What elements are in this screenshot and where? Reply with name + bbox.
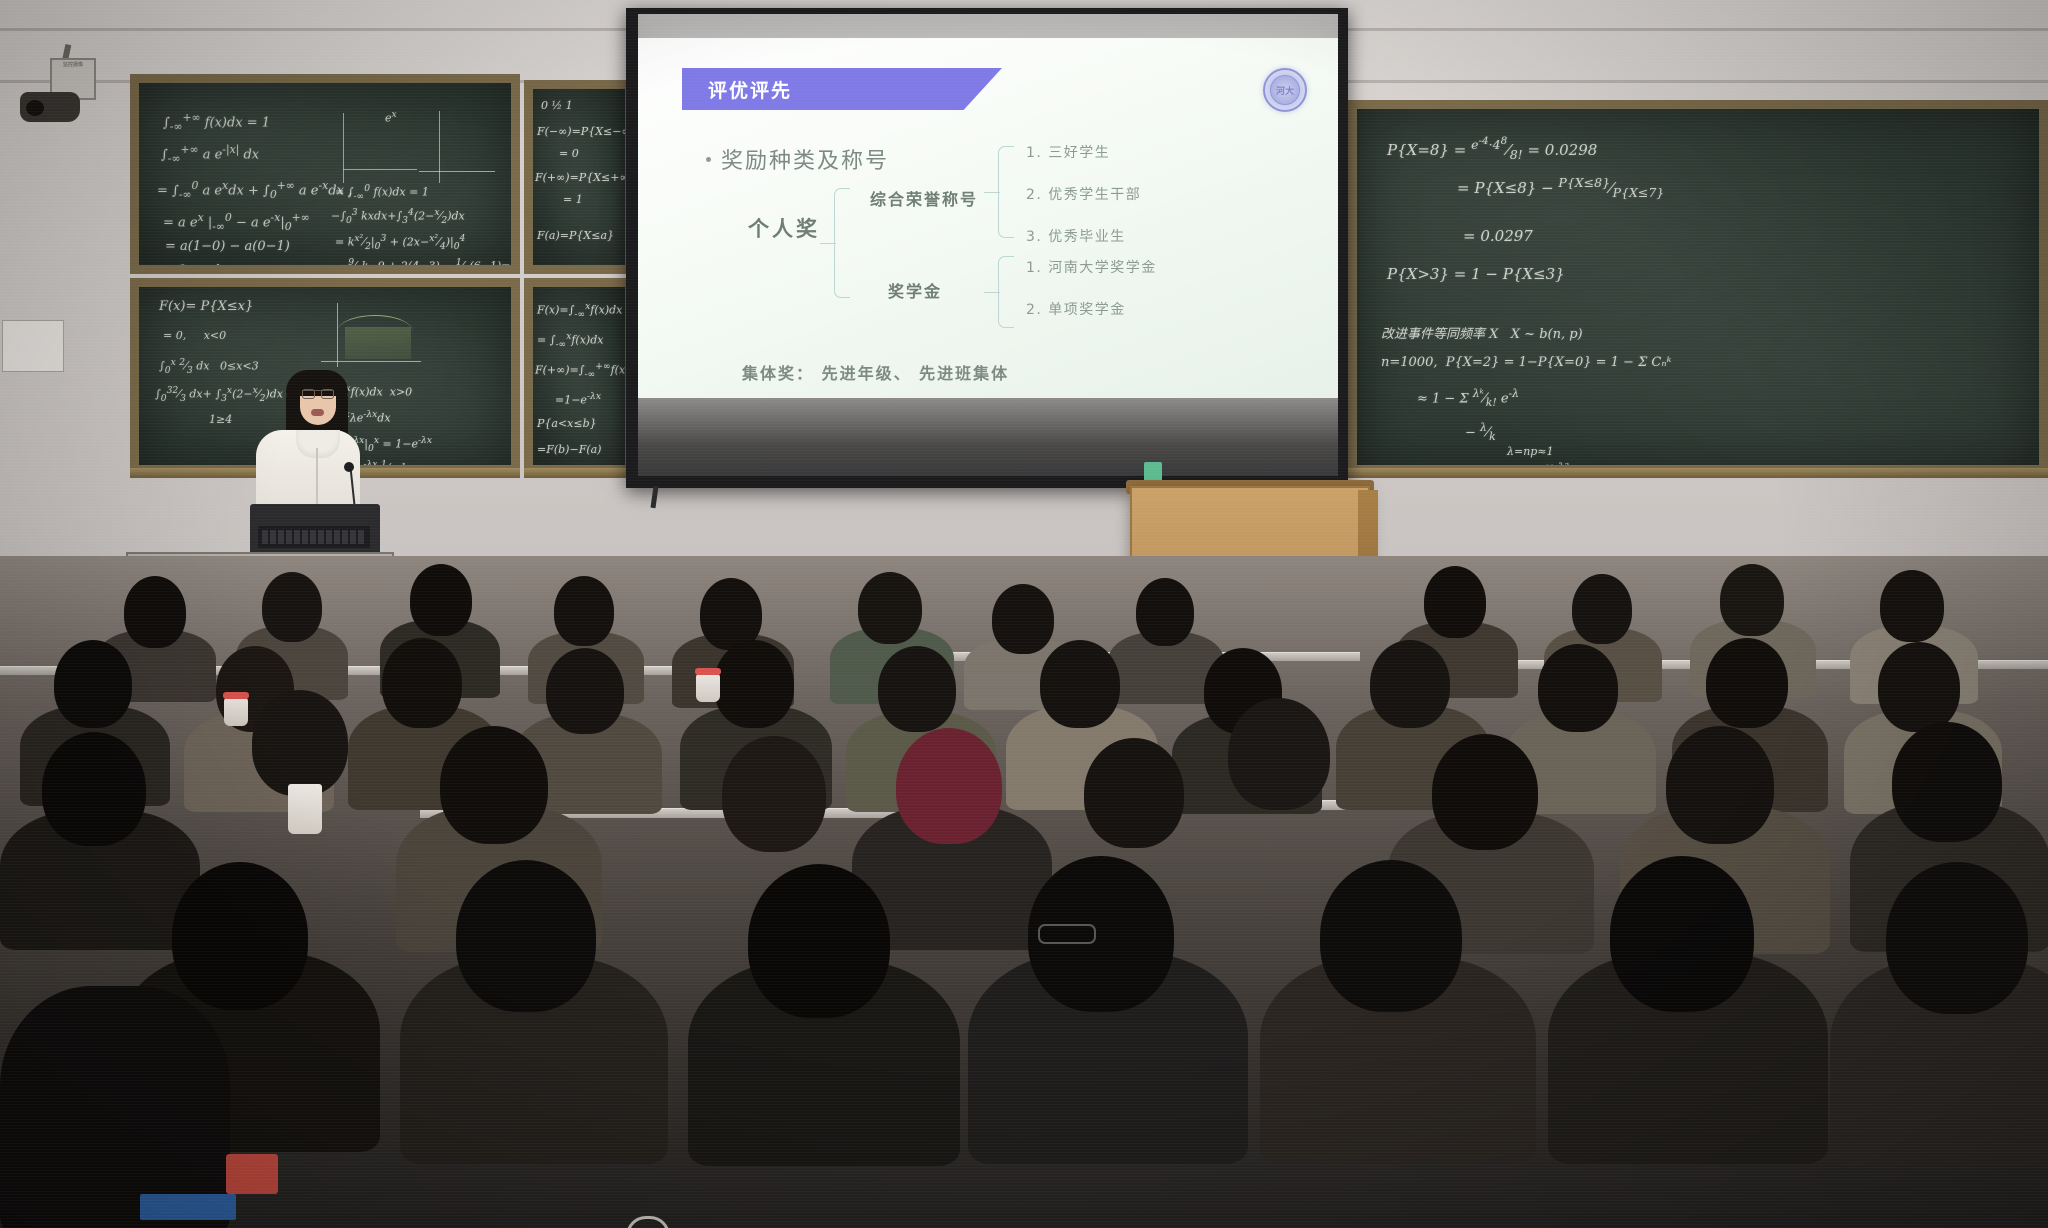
podium-keyboard-keys [262,530,366,544]
paper-cup-lid [695,668,721,675]
audience-head [172,862,308,1010]
audience-head [262,572,322,642]
audience-head [124,576,186,648]
audience-head [1892,722,2002,842]
thermos-bottle [288,784,322,834]
presentation-slide: 评优评先 河大 奖励种类及称号 个人奖 综合荣誉称号 奖学金 1. 三好学生 2… [638,38,1338,398]
audience-head [1572,574,1632,644]
screen-unlit-top [638,14,1338,38]
slide-title-banner: 评优评先 [682,68,1002,110]
tree-root-label: 个人奖 [748,213,820,243]
slide-bullet-row: 奖励种类及称号 [706,143,889,175]
lecturer-collar [296,430,340,458]
audience-head [1720,564,1784,636]
audience-head [1666,726,1774,844]
audience-head [1538,644,1618,732]
lecturer-mouth [311,409,324,416]
audience-head-dyed-red [896,728,1002,844]
blackboard-right: P{X=8} = e-4·48⁄8! = 0.0298 = P{X≤8} − P… [1348,100,2048,474]
audience-head [1370,640,1450,728]
audience-head [252,690,348,796]
audience-head [1610,856,1754,1012]
audience-head [1136,578,1194,646]
audience-head [1040,640,1120,728]
university-seal-icon: 河大 [1263,68,1307,112]
wall-notice-paper [2,320,64,372]
microphone-icon [344,462,354,472]
audience-head [1424,566,1486,638]
slide-bullet-text: 奖励种类及称号 [721,143,889,175]
audience-head [1084,738,1184,848]
audience-head [1878,642,1960,732]
lecture-hall-photo: 监控摄像 ∫-∞+∞ f(x)dx = 1 ∫-∞+∞ a e-|x| dx =… [0,0,2048,1228]
audience-head [992,584,1054,654]
audience-head [748,864,890,1018]
list-item: 2. 优秀学生干部 [1026,184,1141,204]
audience-head [382,638,462,728]
list-item: 2. 单项奖学金 [1026,299,1126,319]
collective-award-text: 集体奖： 先进年级、 先进班集体 [742,360,1009,384]
paper-cup-lid [223,692,249,699]
university-seal-inner: 河大 [1270,75,1300,105]
projection-screen: 评优评先 河大 奖励种类及称号 个人奖 综合荣誉称号 奖学金 1. 三好学生 2… [638,14,1338,476]
paper-cup [224,698,248,726]
audience-head [858,572,922,644]
audience-head [554,576,614,646]
audience-area [0,556,2048,1228]
audience-head [1706,638,1788,728]
audience-head [714,640,794,728]
tree-branch-label-scholarship: 奖学金 [888,278,942,302]
tree-connector-root-tick [820,243,836,244]
red-item [226,1154,278,1194]
audience-head [1228,698,1330,810]
blackboard-left-top: ∫-∞+∞ f(x)dx = 1 ∫-∞+∞ a e-|x| dx = ∫-∞0… [130,74,520,274]
eyeglasses-icon [1038,924,1096,944]
audience-head [1886,862,2028,1014]
chalk-tray [524,468,634,478]
tree-connector-honors [998,146,1014,238]
blackboard-middle-top: 0 ½ 1 F(−∞)=P{X≤−∞} = 0 F(+∞)=P{X≤+∞} = … [524,80,634,274]
list-item: 1. 河南大学奖学金 [1026,257,1157,277]
tree-branch-label-honors: 综合荣誉称号 [870,186,978,210]
lecturer-glasses-bridge [302,390,334,399]
notebook [140,1194,236,1220]
camera-label: 监控摄像 [52,62,94,70]
tree-connector-root [834,188,850,298]
audience-head [54,640,132,728]
screen-unlit-bottom [638,398,1338,476]
list-item: 1. 三好学生 [1026,142,1110,162]
slide-title: 评优评先 [708,76,792,103]
list-item: 3. 优秀毕业生 [1026,226,1126,246]
paper-cup [696,674,720,702]
tree-connector-scholarship [998,256,1014,328]
camera-lens-icon [26,100,44,116]
audience-head [42,732,146,846]
audience-head [440,726,548,844]
audience-member [0,986,230,1228]
audience-head [546,648,624,734]
tree-connector-honors-tick [984,192,1000,193]
audience-head [722,736,826,852]
tree-connector-scholarship-tick [984,292,1000,293]
bullet-dot-icon [706,157,711,162]
audience-head [1432,734,1538,850]
chalk-tray [1348,468,2048,478]
audience-head [410,564,472,636]
audience-head [456,860,596,1012]
audience-head [1320,860,1462,1012]
audience-head [878,646,956,732]
audience-head [1880,570,1944,642]
blackboard-middle-bottom: F(x)=∫-∞xf(x)dx = ∫-∞xf(x)dx F(+∞)=∫-∞+∞… [524,278,634,474]
